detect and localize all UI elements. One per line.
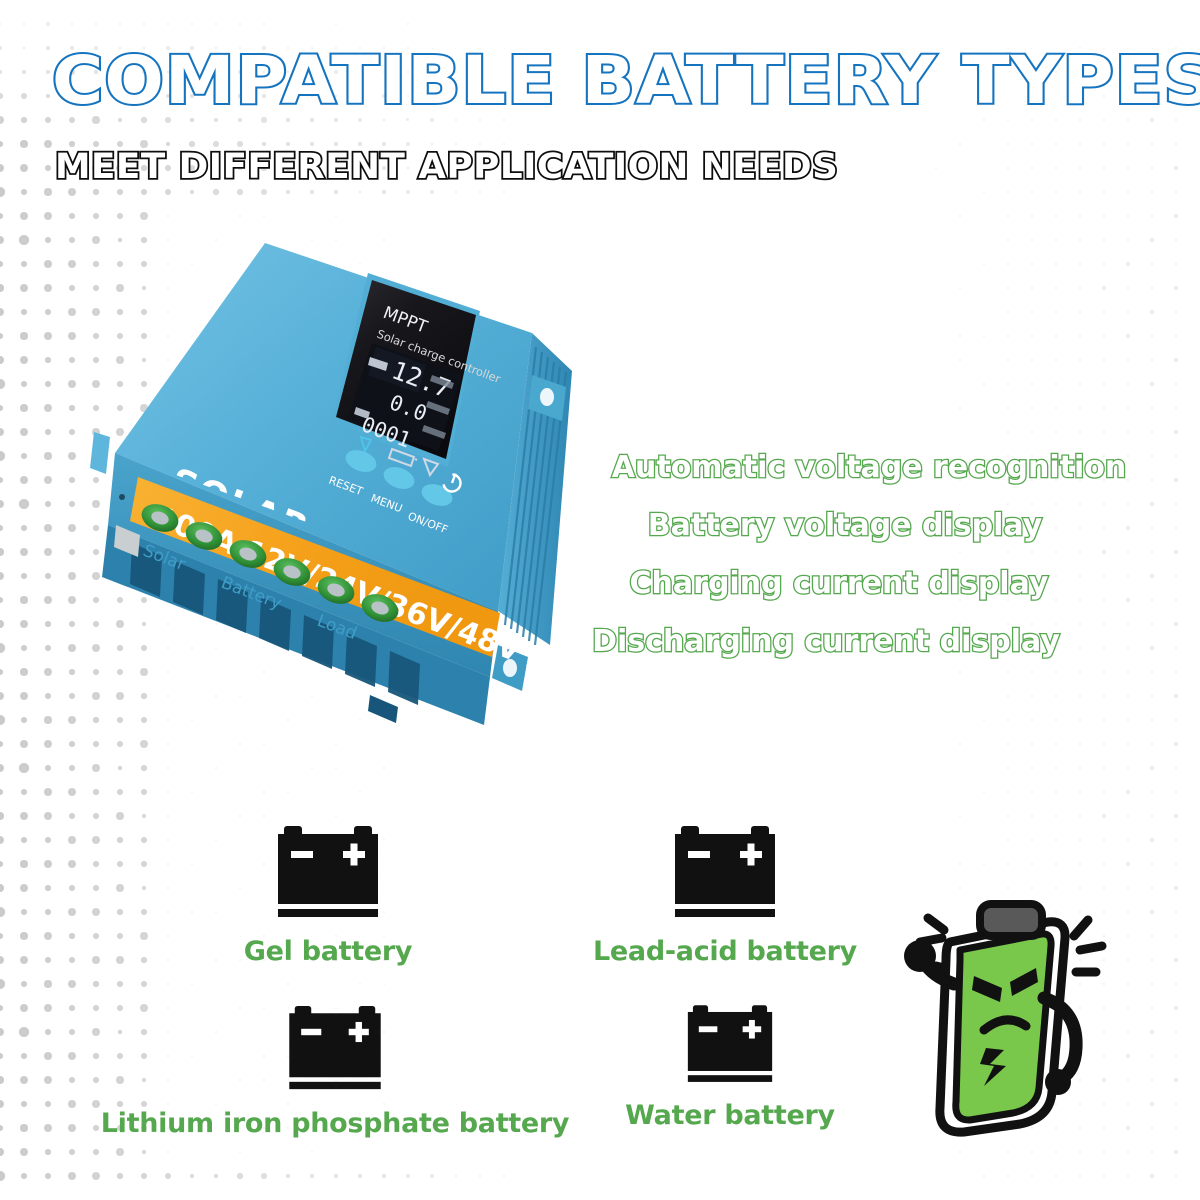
mascot-body-fill <box>956 934 1051 1120</box>
car-battery-icon <box>271 1000 399 1096</box>
car-battery-icon <box>655 820 795 924</box>
mascot-right-hand <box>1045 1069 1071 1095</box>
battery-type-cell: Gel battery <box>193 820 463 967</box>
feature-item: Battery voltage display <box>550 508 1140 543</box>
angry-battery-mascot <box>880 880 1180 1180</box>
car-battery-icon <box>258 820 398 924</box>
feature-list: Automatic voltage recognition Battery vo… <box>560 450 1140 682</box>
page-subtitle: MEET DIFFERENT APPLICATION NEEDS <box>55 150 838 185</box>
battery-type-label: Lead-acid battery <box>590 936 860 967</box>
car-battery-icon <box>671 1000 789 1088</box>
battery-type-cell: Water battery <box>600 1000 860 1131</box>
battery-type-label: Lithium iron phosphate battery <box>100 1108 570 1139</box>
battery-type-label: Water battery <box>600 1100 860 1131</box>
mascot-left-fist <box>904 940 936 972</box>
mascot-cap <box>980 904 1042 936</box>
battery-type-cell: Lead-acid battery <box>590 820 860 967</box>
page-title: COMPATIBLE BATTERY TYPES <box>52 48 1200 114</box>
battery-type-label: Gel battery <box>193 936 463 967</box>
battery-type-cell: Lithium iron phosphate battery <box>100 1000 570 1139</box>
feature-item: Discharging current display <box>512 624 1140 659</box>
solar-charge-controller-product-image: 100A 12V/24V/36V/48V AUTO SOLAR CHARGE C… <box>80 225 640 785</box>
feature-item: Automatic voltage recognition <box>598 450 1140 485</box>
feature-item: Charging current display <box>538 566 1140 601</box>
